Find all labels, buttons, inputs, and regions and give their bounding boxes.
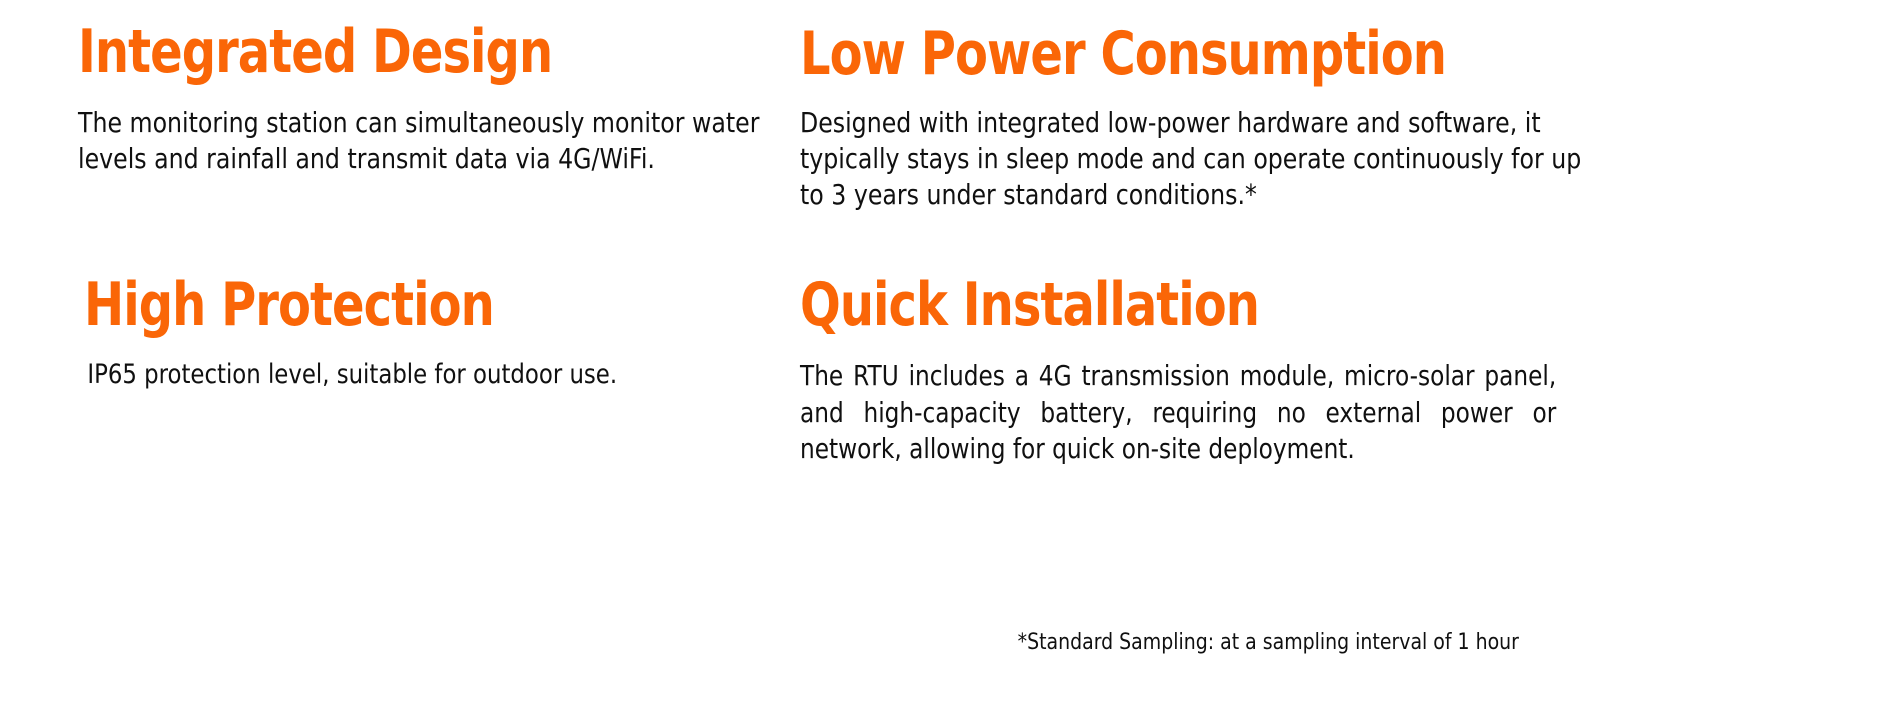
feature-block-low-power-consumption: Low Power Consumption Designed with inte…: [800, 24, 1760, 213]
feature-heading-low-power-consumption: Low Power Consumption: [800, 24, 1568, 85]
feature-heading-high-protection: High Protection: [84, 275, 788, 336]
feature-body-low-power-consumption: Designed with integrated low-power hardw…: [800, 105, 1611, 212]
feature-body-quick-installation: The RTU includes a 4G transmission modul…: [800, 358, 1556, 468]
feature-block-quick-installation: Quick Installation The RTU includes a 4G…: [800, 275, 1700, 468]
feature-body-high-protection: IP65 protection level, suitable for outd…: [84, 358, 831, 393]
feature-body-integrated-design: The monitoring station can simultaneousl…: [78, 105, 788, 177]
feature-heading-quick-installation: Quick Installation: [800, 275, 1520, 336]
footnote-standard-sampling: *Standard Sampling: at a sampling interv…: [1018, 630, 1519, 656]
feature-heading-integrated-design: Integrated Design: [78, 22, 782, 83]
feature-highlights-page: Integrated Design The monitoring station…: [0, 0, 1879, 710]
